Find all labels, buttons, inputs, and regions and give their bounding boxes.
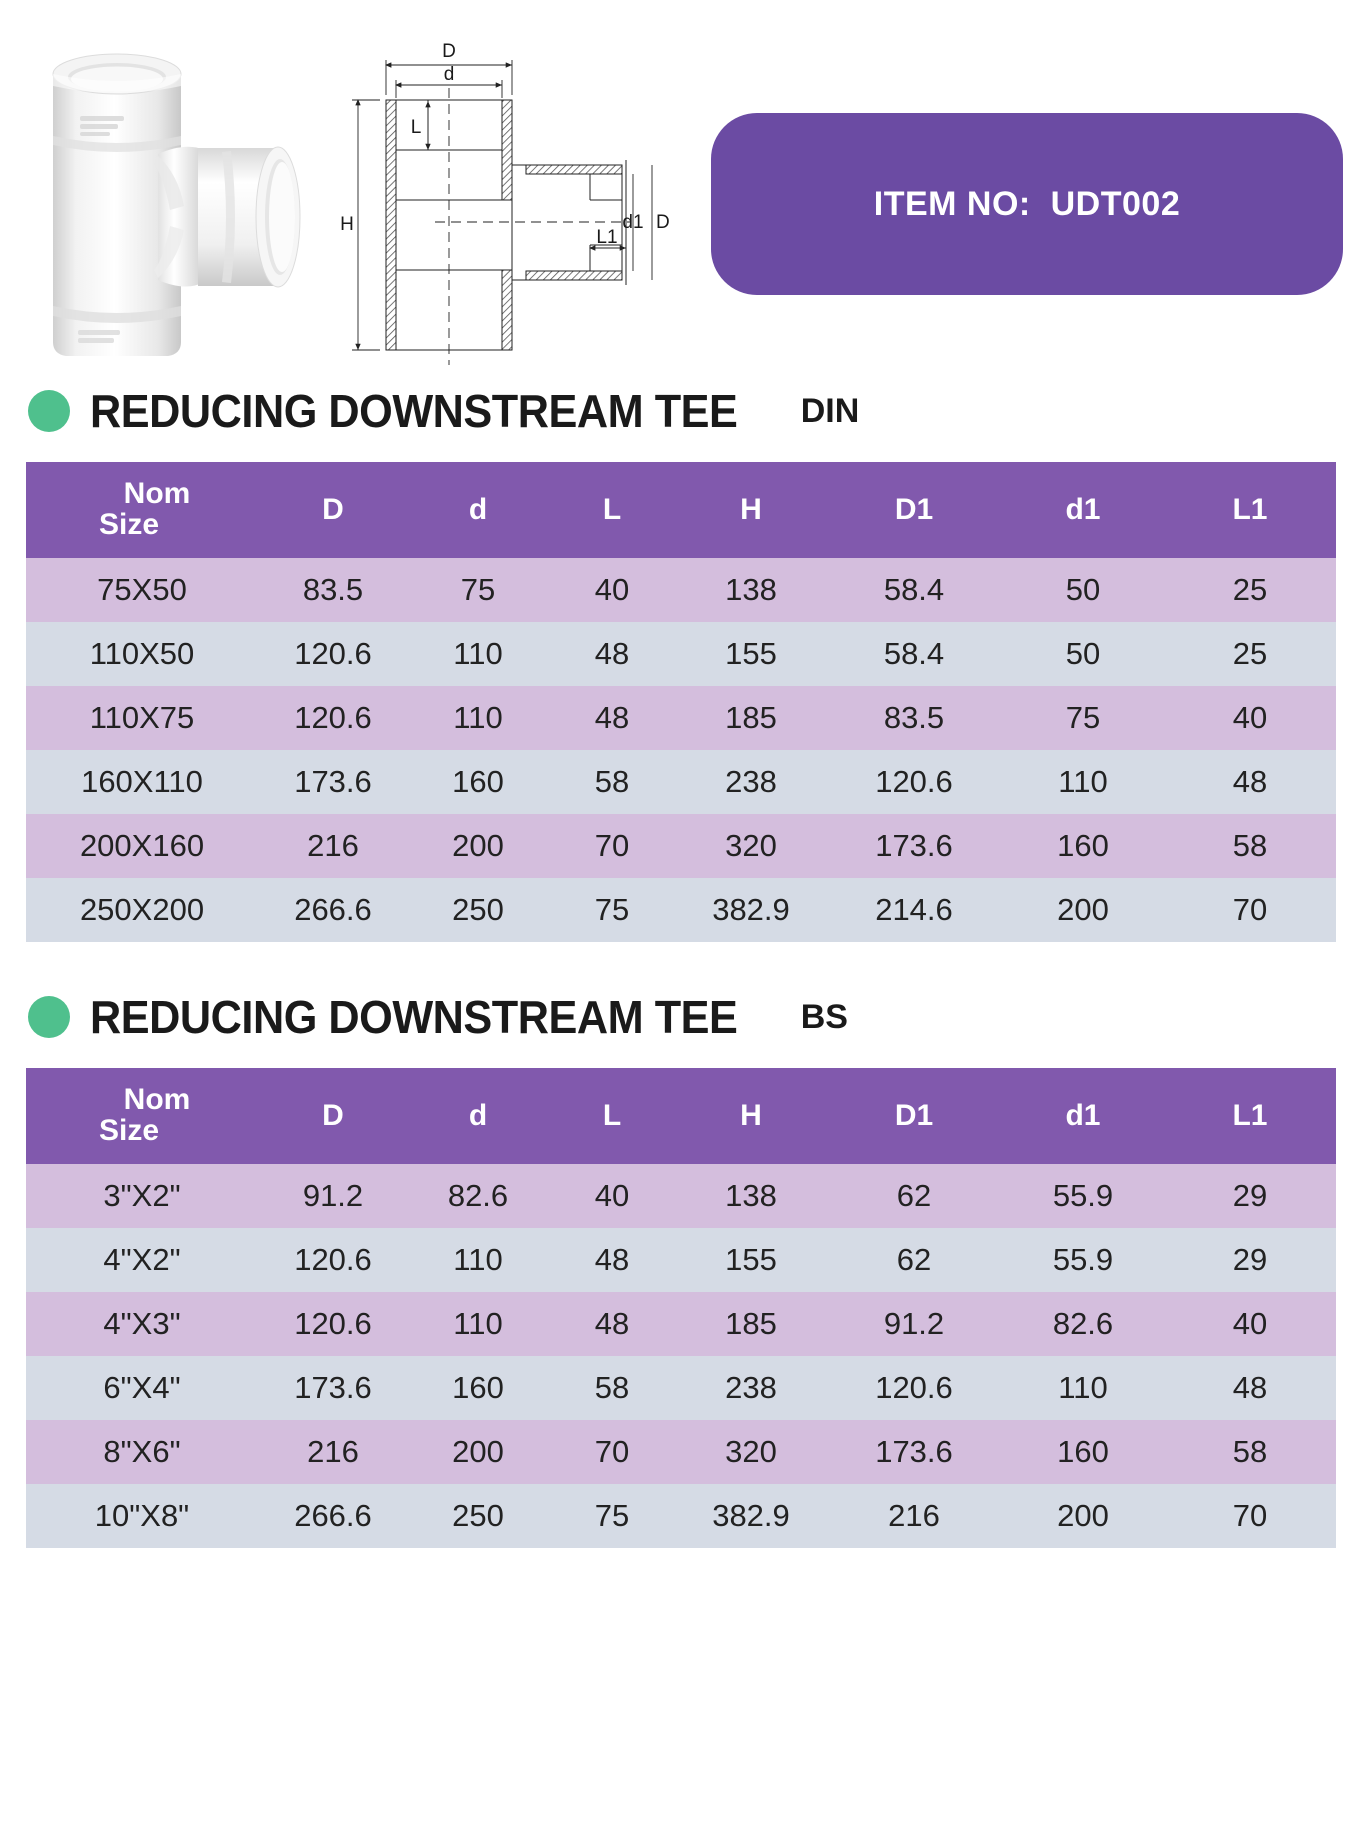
- cell-L1: 40: [1164, 1292, 1336, 1356]
- table-row: 160X110 173.6 160 58 238 120.6 110 48: [26, 750, 1336, 814]
- cell-nom-size: 6"X4": [26, 1356, 258, 1420]
- cell-d: 82.6: [408, 1164, 548, 1228]
- cell-d1: 50: [1002, 622, 1164, 686]
- cell-D1: 216: [826, 1484, 1002, 1548]
- cell-L1: 25: [1164, 622, 1336, 686]
- section-standard: DIN: [801, 394, 860, 428]
- cell-H: 155: [676, 1228, 826, 1292]
- cell-L: 48: [548, 622, 676, 686]
- table-row: 110X50 120.6 110 48 155 58.4 50 25: [26, 622, 1336, 686]
- cell-H: 238: [676, 1356, 826, 1420]
- cell-L: 40: [548, 558, 676, 622]
- cell-d: 75: [408, 558, 548, 622]
- cell-nom-size: 4"X3": [26, 1292, 258, 1356]
- cell-d1: 75: [1002, 686, 1164, 750]
- cell-D: 266.6: [258, 878, 408, 942]
- cell-H: 138: [676, 1164, 826, 1228]
- cell-L1: 40: [1164, 686, 1336, 750]
- cell-D: 120.6: [258, 622, 408, 686]
- table-row: 4"X3" 120.6 110 48 185 91.2 82.6 40: [26, 1292, 1336, 1356]
- header-nom-line2: Size: [30, 510, 258, 541]
- header-nom-size: Nom Size: [26, 462, 258, 558]
- cell-L: 58: [548, 750, 676, 814]
- header-D1: D1: [826, 462, 1002, 558]
- header-d1: d1: [1002, 1068, 1164, 1164]
- header-nom-line1: Nom: [30, 479, 258, 510]
- cell-d: 110: [408, 1228, 548, 1292]
- cell-D1: 58.4: [826, 622, 1002, 686]
- green-dot-icon: [28, 996, 70, 1038]
- spec-table-din: Nom Size D d L H D1 d1 L1 75X50 83.5 75 …: [26, 462, 1336, 942]
- cell-nom-size: 4"X2": [26, 1228, 258, 1292]
- cell-D: 120.6: [258, 1292, 408, 1356]
- cell-D1: 62: [826, 1164, 1002, 1228]
- header-d: d: [408, 1068, 548, 1164]
- section-title-din: REDUCING DOWNSTREAM TEE DIN: [0, 380, 1363, 442]
- cell-L: 75: [548, 878, 676, 942]
- cell-D: 120.6: [258, 686, 408, 750]
- cell-D1: 173.6: [826, 814, 1002, 878]
- cell-nom-size: 110X75: [26, 686, 258, 750]
- cell-H: 155: [676, 622, 826, 686]
- header-L: L: [548, 1068, 676, 1164]
- section-standard: BS: [801, 1000, 848, 1034]
- cell-D1: 214.6: [826, 878, 1002, 942]
- cell-nom-size: 75X50: [26, 558, 258, 622]
- cell-D1: 58.4: [826, 558, 1002, 622]
- cell-D: 173.6: [258, 1356, 408, 1420]
- cell-L: 48: [548, 1228, 676, 1292]
- cell-L: 70: [548, 1420, 676, 1484]
- cell-d1: 160: [1002, 1420, 1164, 1484]
- cell-H: 382.9: [676, 878, 826, 942]
- table-header-row: Nom Size D d L H D1 d1 L1: [26, 462, 1336, 558]
- cell-H: 382.9: [676, 1484, 826, 1548]
- cell-L: 58: [548, 1356, 676, 1420]
- cell-L1: 70: [1164, 878, 1336, 942]
- cell-nom-size: 3"X2": [26, 1164, 258, 1228]
- cell-nom-size: 200X160: [26, 814, 258, 878]
- green-dot-icon: [28, 390, 70, 432]
- header-L1: L1: [1164, 1068, 1336, 1164]
- cell-D: 91.2: [258, 1164, 408, 1228]
- cell-D1: 83.5: [826, 686, 1002, 750]
- cell-d1: 82.6: [1002, 1292, 1164, 1356]
- cell-H: 320: [676, 814, 826, 878]
- table-row: 10"X8" 266.6 250 75 382.9 216 200 70: [26, 1484, 1336, 1548]
- item-number-badge: ITEM NO: UDT002: [711, 113, 1343, 295]
- cell-H: 185: [676, 686, 826, 750]
- table-row: 110X75 120.6 110 48 185 83.5 75 40: [26, 686, 1336, 750]
- header-section: D d L H: [0, 0, 1363, 380]
- cell-D: 173.6: [258, 750, 408, 814]
- header-D: D: [258, 1068, 408, 1164]
- dim-label-d: d: [444, 64, 455, 85]
- cell-L1: 25: [1164, 558, 1336, 622]
- dim-label-L1: L1: [596, 227, 617, 248]
- cell-nom-size: 250X200: [26, 878, 258, 942]
- table-row: 3"X2" 91.2 82.6 40 138 62 55.9 29: [26, 1164, 1336, 1228]
- cell-d: 250: [408, 878, 548, 942]
- cell-d1: 55.9: [1002, 1228, 1164, 1292]
- table-header-row: Nom Size D d L H D1 d1 L1: [26, 1068, 1336, 1164]
- section-title-bs: REDUCING DOWNSTREAM TEE BS: [0, 986, 1363, 1048]
- cell-D1: 62: [826, 1228, 1002, 1292]
- cell-D: 83.5: [258, 558, 408, 622]
- cell-D1: 91.2: [826, 1292, 1002, 1356]
- cell-L: 75: [548, 1484, 676, 1548]
- header-L: L: [548, 462, 676, 558]
- header-d1: d1: [1002, 462, 1164, 558]
- cell-L1: 48: [1164, 750, 1336, 814]
- header-D: D: [258, 462, 408, 558]
- table-row: 75X50 83.5 75 40 138 58.4 50 25: [26, 558, 1336, 622]
- cell-d: 200: [408, 814, 548, 878]
- table-row: 4"X2" 120.6 110 48 155 62 55.9 29: [26, 1228, 1336, 1292]
- section-heading: REDUCING DOWNSTREAM TEE: [90, 388, 737, 434]
- cell-D: 216: [258, 814, 408, 878]
- dim-label-L: L: [411, 117, 422, 138]
- cell-nom-size: 8"X6": [26, 1420, 258, 1484]
- cell-H: 238: [676, 750, 826, 814]
- cell-L: 40: [548, 1164, 676, 1228]
- cell-d1: 55.9: [1002, 1164, 1164, 1228]
- cell-nom-size: 160X110: [26, 750, 258, 814]
- header-d: d: [408, 462, 548, 558]
- cell-d1: 160: [1002, 814, 1164, 878]
- header-nom-line2: Size: [30, 1116, 258, 1147]
- header-nom-line1: Nom: [30, 1085, 258, 1116]
- cell-D1: 120.6: [826, 1356, 1002, 1420]
- cell-L: 48: [548, 686, 676, 750]
- cell-L: 70: [548, 814, 676, 878]
- cell-L1: 58: [1164, 1420, 1336, 1484]
- cell-H: 320: [676, 1420, 826, 1484]
- table-row: 6"X4" 173.6 160 58 238 120.6 110 48: [26, 1356, 1336, 1420]
- table-body-din: 75X50 83.5 75 40 138 58.4 50 25 110X50 1…: [26, 558, 1336, 942]
- cell-d1: 110: [1002, 750, 1164, 814]
- cell-L1: 48: [1164, 1356, 1336, 1420]
- dim-label-D: D: [442, 41, 456, 62]
- cell-D: 266.6: [258, 1484, 408, 1548]
- header-L1: L1: [1164, 462, 1336, 558]
- table-row: 200X160 216 200 70 320 173.6 160 58: [26, 814, 1336, 878]
- table-row: 250X200 266.6 250 75 382.9 214.6 200 70: [26, 878, 1336, 942]
- product-photo: [8, 24, 338, 364]
- cell-d1: 50: [1002, 558, 1164, 622]
- dim-label-d1: d1: [622, 212, 643, 233]
- cell-H: 185: [676, 1292, 826, 1356]
- dim-label-H: H: [340, 214, 354, 235]
- cell-L1: 29: [1164, 1164, 1336, 1228]
- cell-L1: 70: [1164, 1484, 1336, 1548]
- cell-L: 48: [548, 1292, 676, 1356]
- cell-d1: 200: [1002, 878, 1164, 942]
- cell-nom-size: 10"X8": [26, 1484, 258, 1548]
- cell-L1: 29: [1164, 1228, 1336, 1292]
- spec-table-bs: Nom Size D d L H D1 d1 L1 3"X2" 91.2 82.…: [26, 1068, 1336, 1548]
- cell-d: 160: [408, 750, 548, 814]
- header-H: H: [676, 462, 826, 558]
- table-row: 8"X6" 216 200 70 320 173.6 160 58: [26, 1420, 1336, 1484]
- cell-d1: 110: [1002, 1356, 1164, 1420]
- cell-d: 160: [408, 1356, 548, 1420]
- item-number-label: ITEM NO: UDT002: [874, 185, 1180, 224]
- cell-d: 250: [408, 1484, 548, 1548]
- dimension-drawing: D d L H: [330, 40, 670, 370]
- dim-label-D1: D1: [656, 212, 670, 233]
- cell-nom-size: 110X50: [26, 622, 258, 686]
- section-heading: REDUCING DOWNSTREAM TEE: [90, 994, 737, 1040]
- cell-D1: 173.6: [826, 1420, 1002, 1484]
- cell-D1: 120.6: [826, 750, 1002, 814]
- header-H: H: [676, 1068, 826, 1164]
- cell-D: 120.6: [258, 1228, 408, 1292]
- cell-d: 200: [408, 1420, 548, 1484]
- product-spec-sheet: D d L H: [0, 0, 1363, 1829]
- cell-L1: 58: [1164, 814, 1336, 878]
- cell-d: 110: [408, 622, 548, 686]
- cell-d: 110: [408, 1292, 548, 1356]
- header-D1: D1: [826, 1068, 1002, 1164]
- table-body-bs: 3"X2" 91.2 82.6 40 138 62 55.9 29 4"X2" …: [26, 1164, 1336, 1548]
- cell-d1: 200: [1002, 1484, 1164, 1548]
- cell-H: 138: [676, 558, 826, 622]
- cell-D: 216: [258, 1420, 408, 1484]
- header-nom-size: Nom Size: [26, 1068, 258, 1164]
- cell-d: 110: [408, 686, 548, 750]
